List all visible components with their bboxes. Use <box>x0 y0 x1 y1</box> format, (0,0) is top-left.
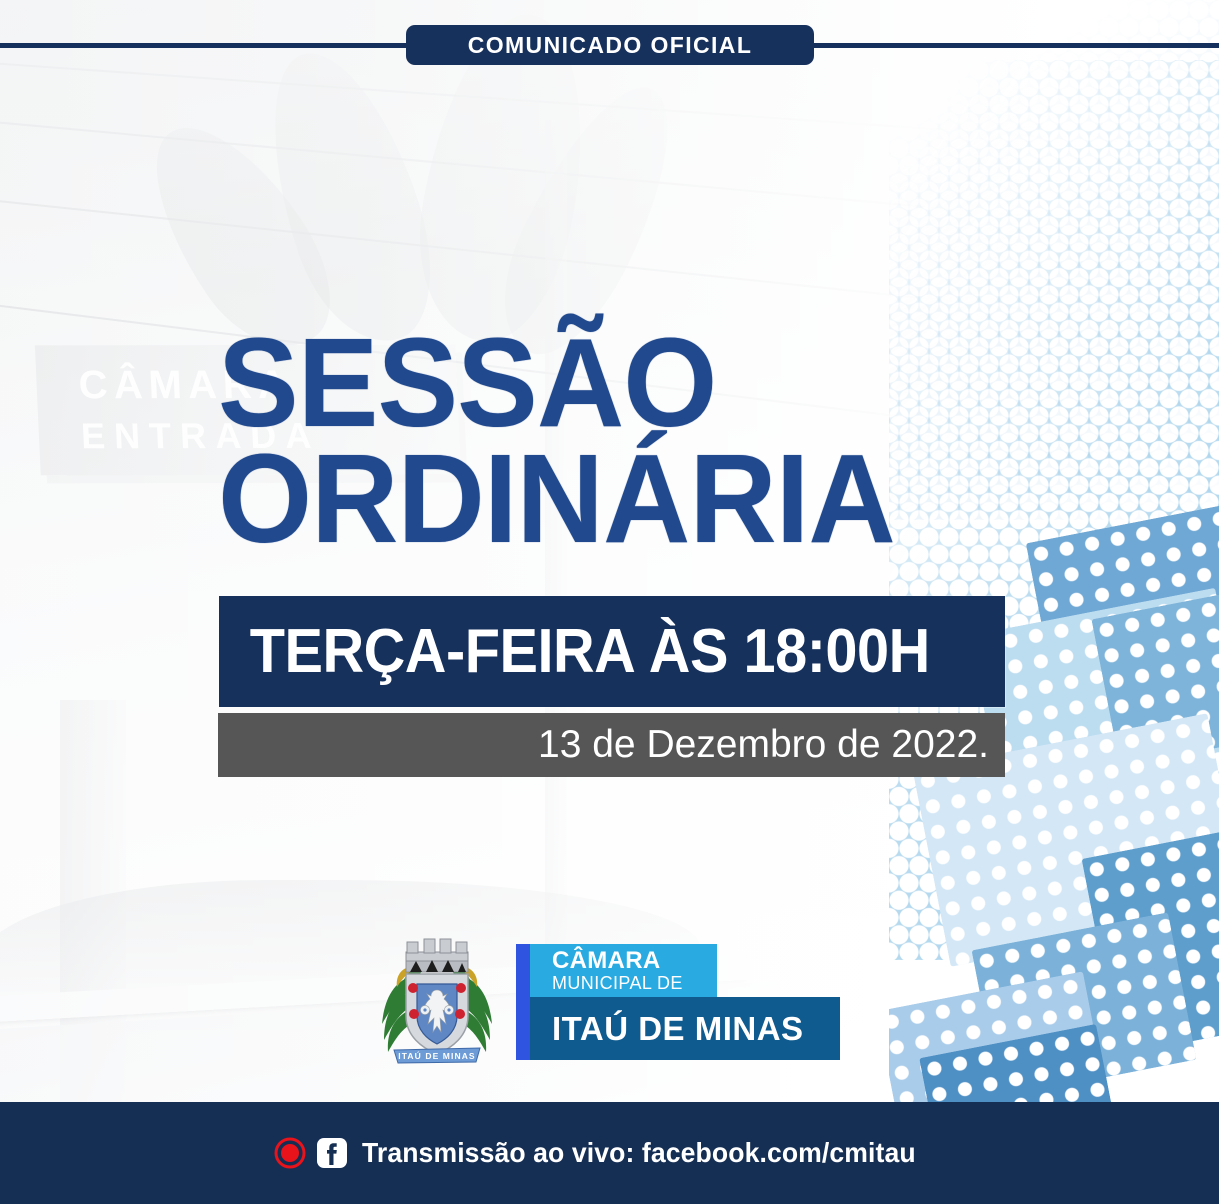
coat-of-arms-icon: ITAÚ DE MINAS <box>376 932 498 1064</box>
live-record-icon <box>274 1137 306 1169</box>
session-daytime-bar: TERÇA-FEIRA ÀS 18:00H <box>219 596 1005 707</box>
session-daytime-label: TERÇA-FEIRA ÀS 18:00H <box>219 616 930 687</box>
brand-line-municipal: MUNICIPAL DE <box>552 973 717 994</box>
crest-ribbon-text: ITAÚ DE MINAS <box>398 1050 475 1061</box>
footer-bar: Transmissão ao vivo: facebook.com/cmitau <box>0 1102 1219 1204</box>
page-title-line2: ORDINÁRIA <box>218 441 986 557</box>
footer-live-text[interactable]: Transmissão ao vivo: facebook.com/cmitau <box>362 1137 916 1169</box>
brand-lockup: ITAÚ DE MINAS CÂMARA MUNICIPAL DE ITAÚ D… <box>376 932 840 1064</box>
facebook-icon[interactable] <box>317 1138 347 1168</box>
ribbon-rule-left <box>0 43 415 48</box>
brand-line-city: ITAÚ DE MINAS <box>552 1010 804 1048</box>
brand-box-city: ITAÚ DE MINAS <box>530 997 840 1060</box>
footer-content: Transmissão ao vivo: facebook.com/cmitau <box>274 1137 945 1169</box>
brand-line-camara: CÂMARA <box>552 949 717 973</box>
ribbon-rule-right <box>807 43 1219 48</box>
page-title: SESSÃO ORDINÁRIA <box>218 325 986 557</box>
brand-name-boxes: CÂMARA MUNICIPAL DE ITAÚ DE MINAS <box>516 944 840 1060</box>
brand-box-camara: CÂMARA MUNICIPAL DE <box>530 944 717 997</box>
session-date-label: 13 de Dezembro de 2022. <box>538 723 1005 767</box>
session-date-bar: 13 de Dezembro de 2022. <box>218 713 1005 777</box>
official-notice-label: COMUNICADO OFICIAL <box>468 32 753 59</box>
official-notice-badge: COMUNICADO OFICIAL <box>406 25 814 65</box>
brand-accent-bar <box>516 944 530 1060</box>
poster-canvas: CÂMARA ENTRADA COMUNICADO OFICIAL SESSÃO… <box>0 0 1219 1204</box>
